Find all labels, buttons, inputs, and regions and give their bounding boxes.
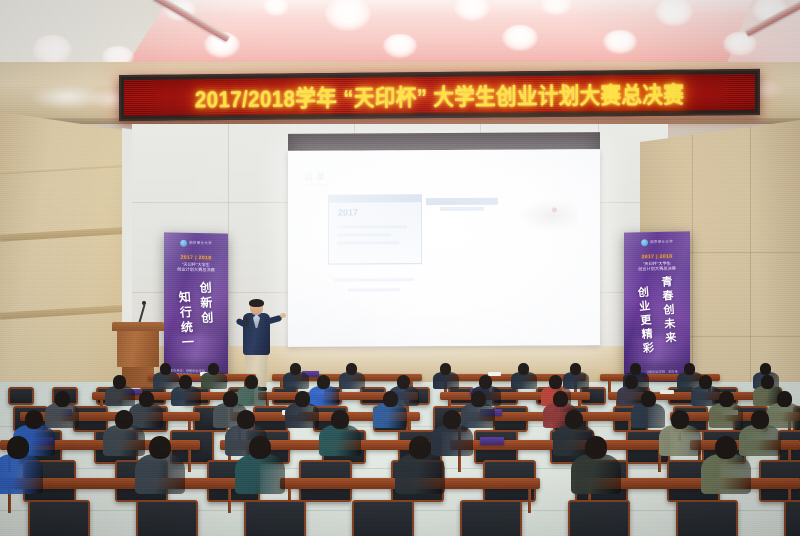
attendee-laptop — [480, 437, 504, 445]
audience-member-head — [383, 391, 398, 407]
slide-faint-line-2 — [337, 233, 391, 236]
led-banner: 2017/2018学年 “天印杯” 大学生创业计划大赛总决赛 — [119, 69, 760, 121]
audience-member-torso — [319, 425, 360, 456]
audience-member-head — [671, 410, 689, 429]
audience-chair — [676, 500, 738, 536]
audience-member-torso — [171, 386, 201, 406]
slide-photo-placeholder — [520, 199, 578, 231]
desk-leg — [228, 489, 231, 513]
audience-member-torso — [201, 372, 226, 389]
ceiling-downlight — [32, 35, 73, 65]
slide-caption-bar — [426, 198, 498, 205]
audience-member — [373, 391, 408, 428]
slide-title: 目录 — [304, 170, 328, 186]
audience-member-head — [295, 391, 310, 407]
audience-member-head — [440, 363, 451, 375]
audience-member-torso — [511, 372, 536, 389]
audience-member-head — [149, 436, 171, 459]
audience-member-head — [630, 363, 641, 375]
audience-member-torso — [283, 372, 308, 389]
audience-member-head — [518, 363, 529, 375]
audience-member — [235, 436, 286, 494]
audience-member — [395, 436, 446, 494]
audience-member-head — [409, 436, 431, 459]
audience-member-torso — [395, 454, 446, 494]
wall-right-seam-v2 — [750, 124, 751, 406]
slide-faint-line-3 — [337, 241, 399, 244]
audience-chair — [28, 500, 90, 536]
audience-member — [285, 391, 320, 428]
audience-member-head — [684, 363, 695, 375]
slide-accent-dot — [552, 207, 557, 212]
audience-member — [571, 436, 622, 494]
banner-right-sheen — [624, 231, 690, 384]
audience-member-torso — [235, 454, 286, 494]
ceiling-downlight — [502, 25, 538, 51]
audience-chair — [136, 500, 198, 536]
ceiling-downlight — [325, 0, 371, 31]
podium-microphone-icon — [142, 301, 146, 305]
audience-chair — [352, 500, 414, 536]
audience-member-head — [443, 410, 461, 429]
led-banner-panel: 2017/2018学年 “天印杯” 大学生创业计划大赛总决赛 — [124, 74, 755, 116]
audience-member-head — [761, 375, 774, 389]
audience-member-head — [346, 363, 357, 375]
audience-member — [511, 363, 536, 389]
audience-member — [201, 363, 226, 389]
slide-thumbnail-label: 2017 — [338, 207, 358, 217]
speaker-hand-right — [280, 313, 286, 318]
projected-slide: 目录 2017 — [288, 149, 600, 347]
audience-chair — [244, 500, 306, 536]
audience-member-torso — [571, 454, 622, 494]
projection-screen: 目录 2017 — [288, 149, 600, 347]
audience-member-head — [719, 391, 734, 407]
projection-screen-valance — [288, 132, 600, 151]
audience-member-head — [317, 375, 330, 389]
audience-member — [283, 363, 308, 389]
audience-member — [0, 436, 43, 494]
audience-member-head — [553, 391, 568, 407]
slide-caption-bar-secondary — [440, 207, 484, 211]
slide-thumbnail-box: 2017 — [328, 194, 422, 264]
banner-right: 南京审计大学 2017 | 2018 “天印杯”大学生 创业计划大赛总决赛 青春… — [624, 231, 690, 384]
audience-member — [339, 363, 364, 389]
audience-member-head — [699, 375, 712, 389]
audience-member — [171, 375, 201, 406]
speaker-hair — [249, 299, 264, 307]
desk-leg — [188, 450, 191, 472]
audience-member-torso — [135, 454, 186, 494]
audience-member-head — [7, 436, 29, 459]
audience-member-head — [139, 391, 154, 407]
audience-member — [319, 410, 360, 456]
audience-member-head — [249, 436, 271, 459]
audience-member-head — [751, 410, 769, 429]
audience-member-head — [570, 363, 581, 375]
audience-member — [659, 410, 700, 456]
audience-chair — [8, 387, 34, 405]
audience-member-head — [245, 375, 258, 389]
desk-leg — [528, 489, 531, 513]
audience-member-torso — [0, 454, 43, 494]
ceiling-downlight — [383, 34, 417, 59]
audience-chair — [568, 500, 630, 536]
led-banner-text: 2017/2018学年 “天印杯” 大学生创业计划大赛总决赛 — [195, 76, 684, 114]
ceiling-downlight — [723, 32, 757, 57]
slide-faint-line-5 — [348, 288, 400, 291]
audience-member-head — [179, 375, 192, 389]
audience-member-head — [565, 410, 583, 429]
slide-thumbnail-titlebar — [329, 195, 421, 202]
audience-member-head — [777, 391, 792, 407]
banner-left-sheen — [164, 232, 228, 383]
audience-member — [135, 436, 186, 494]
audience-member-head — [397, 375, 410, 389]
podium-top — [112, 322, 164, 331]
audience-member-head — [479, 375, 492, 389]
audience-chair — [784, 500, 800, 536]
audience-member-head — [625, 375, 638, 389]
audience-member-torso — [373, 403, 408, 428]
audience-member — [433, 363, 458, 389]
audience-member-head — [641, 391, 656, 407]
audience-member-head — [208, 363, 219, 375]
audience-member-head — [549, 375, 562, 389]
podium-body — [117, 331, 159, 367]
audience-member — [709, 391, 744, 428]
audience-member-head — [331, 410, 349, 429]
audience-member-head — [160, 363, 171, 375]
audience-member-head — [55, 391, 70, 407]
audience-member-torso — [709, 403, 744, 428]
audience-member-head — [715, 436, 737, 459]
audience-member-head — [471, 391, 486, 407]
audience-member-torso — [285, 403, 320, 428]
audience-member-head — [223, 391, 238, 407]
audience-member-head — [25, 410, 43, 429]
banner-left: 南京审计大学 2017 | 2018 “天印杯”大学生 创业计划大赛总决赛 创新… — [164, 232, 228, 383]
audience-member-torso — [701, 454, 752, 494]
auditorium-photo: 2017/2018学年 “天印杯” 大学生创业计划大赛总决赛 目录 2017 — [0, 0, 800, 536]
audience-member-torso — [339, 372, 364, 389]
audience-member-head — [760, 363, 771, 375]
audience-member-head — [115, 410, 133, 429]
ceiling-downlight — [603, 30, 637, 55]
audience-member-head — [113, 375, 126, 389]
audience-member-head — [237, 410, 255, 429]
slide-faint-line-1 — [337, 225, 407, 228]
slide-faint-line-4 — [334, 278, 414, 281]
audience-member-torso — [433, 372, 458, 389]
audience-member — [701, 436, 752, 494]
audience-member-torso — [659, 425, 700, 456]
audience-member-head — [585, 436, 607, 459]
audience-chair — [460, 500, 522, 536]
audience-member-head — [290, 363, 301, 375]
